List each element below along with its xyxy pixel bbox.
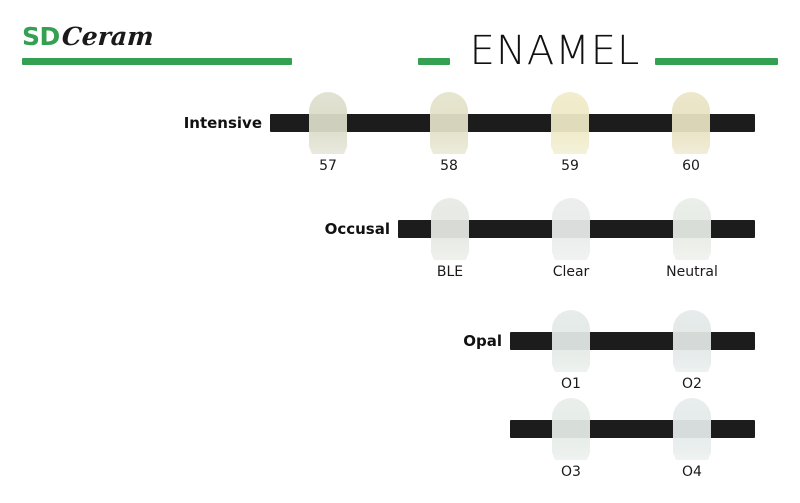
shade-sample[interactable]: 58 bbox=[430, 92, 468, 154]
shade-sample-label: Neutral bbox=[642, 264, 742, 280]
logo-underline-rule bbox=[22, 58, 292, 65]
shade-sample[interactable]: Clear bbox=[552, 198, 590, 260]
shade-row-opal-2: O3O4 bbox=[0, 398, 800, 503]
tooth-chip-icon bbox=[552, 310, 590, 372]
brand-logo-sd: SD bbox=[22, 24, 60, 49]
tooth-chip-icon bbox=[672, 92, 710, 154]
shade-sample[interactable]: 57 bbox=[309, 92, 347, 154]
shade-sample-label: O4 bbox=[642, 464, 742, 480]
brand-logo: SD Ceram bbox=[22, 24, 153, 52]
shade-sample-label: Clear bbox=[521, 264, 621, 280]
tooth-chip-icon bbox=[673, 310, 711, 372]
tooth-chip-icon bbox=[430, 92, 468, 154]
page-header: SD Ceram ENAMEL bbox=[0, 0, 800, 88]
shade-sample[interactable]: Neutral bbox=[673, 198, 711, 260]
tooth-chip-icon bbox=[552, 198, 590, 260]
shade-sample-label: 59 bbox=[520, 158, 620, 174]
tooth-chip-icon bbox=[431, 198, 469, 260]
title-rule-left bbox=[418, 58, 450, 65]
row-bar bbox=[510, 332, 755, 350]
row-label-intensive: Intensive bbox=[184, 115, 262, 131]
shade-sample-label: 60 bbox=[641, 158, 741, 174]
brand-logo-ceram: Ceram bbox=[61, 24, 154, 49]
row-label-opal: Opal bbox=[463, 333, 502, 349]
shade-sample-label: 57 bbox=[278, 158, 378, 174]
tooth-chip-icon bbox=[673, 398, 711, 460]
shade-row-occusal: OccusalBLEClearNeutral bbox=[0, 198, 800, 303]
shade-sample-label: O2 bbox=[642, 376, 742, 392]
shade-sample[interactable]: BLE bbox=[431, 198, 469, 260]
shade-sample[interactable]: 59 bbox=[551, 92, 589, 154]
shade-sample-label: BLE bbox=[400, 264, 500, 280]
shade-sample-label: 58 bbox=[399, 158, 499, 174]
shade-sample[interactable]: 60 bbox=[672, 92, 710, 154]
title-rule-right bbox=[655, 58, 778, 65]
tooth-chip-icon bbox=[552, 398, 590, 460]
shade-sample[interactable]: O2 bbox=[673, 310, 711, 372]
shade-sample-label: O3 bbox=[521, 464, 621, 480]
shade-sample-label: O1 bbox=[521, 376, 621, 392]
shade-sample[interactable]: O3 bbox=[552, 398, 590, 460]
tooth-chip-icon bbox=[551, 92, 589, 154]
row-bar bbox=[510, 420, 755, 438]
tooth-chip-icon bbox=[673, 198, 711, 260]
shade-row-intensive: Intensive57585960 bbox=[0, 92, 800, 197]
page-title: ENAMEL bbox=[455, 31, 655, 71]
shade-sample[interactable]: O1 bbox=[552, 310, 590, 372]
tooth-chip-icon bbox=[309, 92, 347, 154]
shade-sample[interactable]: O4 bbox=[673, 398, 711, 460]
row-label-occusal: Occusal bbox=[325, 221, 390, 237]
